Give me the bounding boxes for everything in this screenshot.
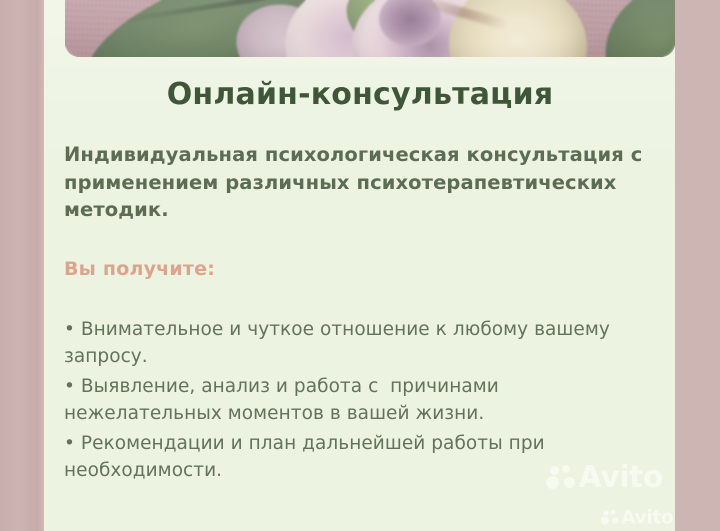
benefits-list: • Внимательное и чуткое отношение к любо… [64,316,656,484]
listing-card: Онлайн-консультация Индивидуальная психо… [44,0,675,531]
avito-watermark-label: Avito [621,508,673,527]
listing-screenshot: Онлайн-консультация Индивидуальная психо… [0,0,720,531]
list-item: • Внимательное и чуткое отношение к любо… [64,316,656,370]
avito-watermark-secondary: Avito [600,508,673,527]
page-title: Онлайн-консультация [64,78,656,111]
avito-dots-logo-icon [600,510,619,526]
listing-description: Онлайн-консультация Индивидуальная психо… [64,78,656,487]
photo-vignette [65,0,675,57]
listing-intro-paragraph: Индивидуальная психологическая консульта… [64,141,656,224]
benefits-heading: Вы получите: [64,258,656,280]
list-item: • Рекомендации и план дальнейшей работы … [64,430,656,484]
list-item: • Выявление, анализ и работа с причинами… [64,373,656,427]
listing-photo[interactable] [65,0,675,57]
